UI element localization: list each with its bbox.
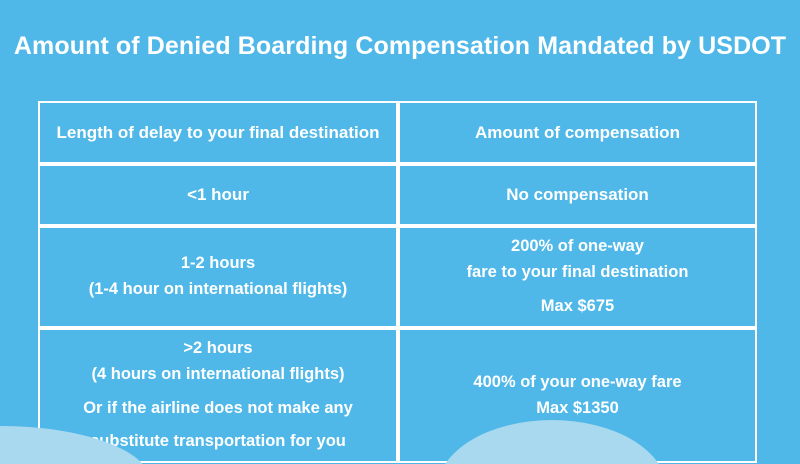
cell-amount-row-2-line-1: 200% of one-way bbox=[410, 236, 745, 258]
cell-delay-row-2-line-1: 1-2 hours bbox=[50, 253, 386, 275]
cell-delay-row-3-line-3: Or if the airline does not make any bbox=[50, 398, 386, 420]
table-header-row: Length of delay to your final destinatio… bbox=[38, 101, 757, 164]
table-row: >2 hours (4 hours on international fligh… bbox=[38, 328, 757, 463]
cell-amount-row-1: No compensation bbox=[398, 164, 757, 226]
cell-delay-row-2: 1-2 hours (1-4 hour on international fli… bbox=[38, 226, 398, 328]
cell-amount-row-2: 200% of one-way fare to your final desti… bbox=[398, 226, 757, 328]
cell-delay-row-1: <1 hour bbox=[38, 164, 398, 226]
cell-amount-row-3-line-1: 400% of your one-way fare bbox=[410, 372, 745, 394]
cell-amount-row-2-max: Max $675 bbox=[410, 296, 745, 318]
cell-amount-row-3-max: Max $1350 bbox=[410, 398, 745, 420]
cell-amount-row-3: 400% of your one-way fare Max $1350 bbox=[398, 328, 757, 463]
table-row: 1-2 hours (1-4 hour on international fli… bbox=[38, 226, 757, 328]
cell-delay-row-2-line-2: (1-4 hour on international flights) bbox=[50, 279, 386, 301]
cell-delay-row-3: >2 hours (4 hours on international fligh… bbox=[38, 328, 398, 463]
table-header-delay: Length of delay to your final destinatio… bbox=[38, 101, 398, 164]
table-row: <1 hour No compensation bbox=[38, 164, 757, 226]
cell-delay-row-3-line-2: (4 hours on international flights) bbox=[50, 364, 386, 386]
cell-delay-row-3-line-4: substitute transportation for you bbox=[50, 431, 386, 453]
cell-amount-row-2-line-2: fare to your final destination bbox=[410, 262, 745, 284]
table-header-amount: Amount of compensation bbox=[398, 101, 757, 164]
cell-delay-row-3-line-1: >2 hours bbox=[50, 338, 386, 360]
page-title: Amount of Denied Boarding Compensation M… bbox=[0, 0, 800, 92]
infographic-container: Amount of Denied Boarding Compensation M… bbox=[0, 0, 800, 464]
compensation-table: Length of delay to your final destinatio… bbox=[38, 101, 757, 463]
